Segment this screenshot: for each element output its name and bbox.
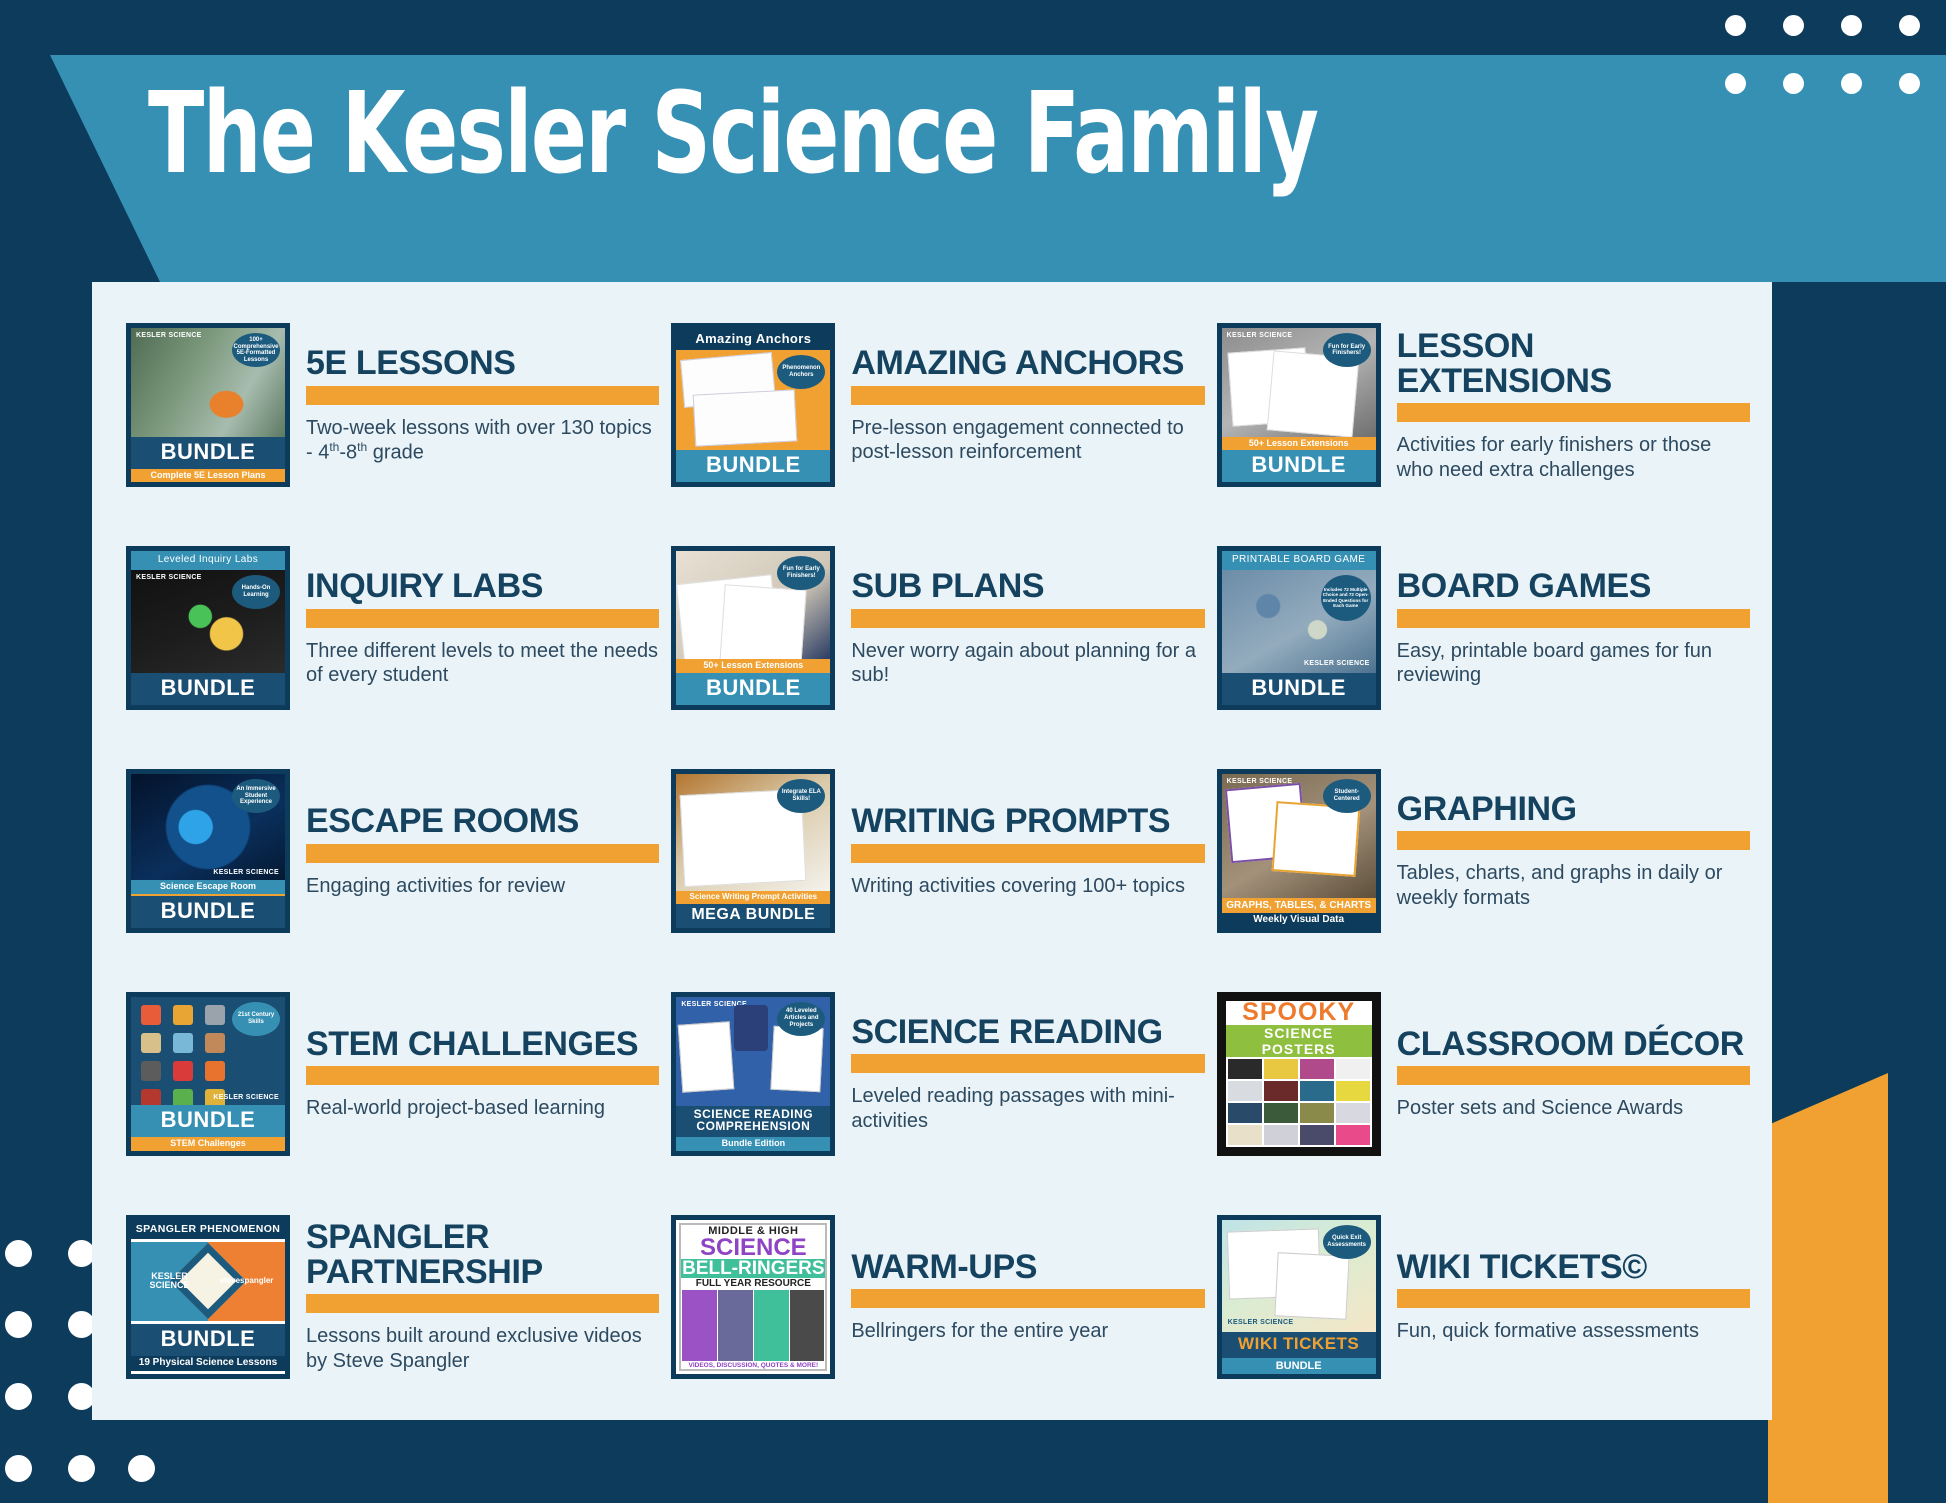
thumbnail-graphing[interactable]: KESLER SCIENCE Student-Centered GRAPHS, … <box>1217 769 1381 933</box>
cover-line3: BELL-RINGERS <box>681 1259 825 1278</box>
thumbnail-writing-prompts[interactable]: Integrate ELA Skills! Science Writing Pr… <box>671 769 835 933</box>
thumbnail-image: KESLER SCIENCE Student-Centered <box>1222 774 1376 898</box>
title-underline-bar <box>851 1054 1204 1073</box>
product-card-lesson-extensions[interactable]: KESLER SCIENCE Fun for Early Finishers! … <box>1211 294 1756 517</box>
thumbnail-badge: 100+ Comprehensive 5E-Formatted Lessons <box>232 333 280 367</box>
thumbnail-sub-label: 19 Physical Science Lessons <box>131 1356 285 1374</box>
product-description: Bellringers for the entire year <box>851 1319 1204 1343</box>
thumbnail-image: KESLER SCIENCE Quick Exit Assessments <box>1222 1220 1376 1332</box>
thumbnail-bundle-label: BUNDLE <box>1222 673 1376 705</box>
title-underline-bar <box>1397 831 1750 850</box>
thumbnail-bundle-label: MEGA BUNDLE <box>676 904 830 928</box>
kesler-science-logo-icon: KESLER SCIENCE <box>213 1094 279 1101</box>
thumbnail-sub-label: Weekly Visual Data <box>1222 913 1376 928</box>
title-underline-bar <box>306 1066 659 1085</box>
thumbnail-image: SPOOKY SCIENCE POSTERS <box>1226 1001 1372 1147</box>
thumbnail-image: KESLER SCIENCE An Immersive Student Expe… <box>131 774 285 880</box>
product-title: CLASSROOM DÉCOR <box>1397 1027 1750 1062</box>
poster-thumbnails <box>1226 1057 1372 1147</box>
product-title: WARM-UPS <box>851 1250 1204 1285</box>
thumbnail-spangler-partnership[interactable]: SPANGLER PHENOMENON KESLER SCIENCE steve… <box>126 1215 290 1379</box>
product-card-writing-prompts[interactable]: Integrate ELA Skills! Science Writing Pr… <box>665 740 1210 963</box>
product-card-warm-ups[interactable]: MIDDLE & HIGH SCIENCE BELL-RINGERS FULL … <box>665 1185 1210 1408</box>
product-description: Fun, quick formative assessments <box>1397 1319 1750 1343</box>
thumbnail-bundle-label: BUNDLE <box>131 1105 285 1137</box>
cover-line4: FULL YEAR RESOURCE <box>681 1278 825 1289</box>
thumbnail-top-label: Amazing Anchors <box>676 328 830 350</box>
product-description: Writing activities covering 100+ topics <box>851 874 1204 898</box>
title-underline-bar <box>1397 1289 1750 1308</box>
thumbnail-bundle-label: BUNDLE <box>131 437 285 469</box>
product-title: INQUIRY LABS <box>306 569 659 604</box>
thumbnail-inquiry-labs[interactable]: Leveled Inquiry Labs KESLER SCIENCE Hand… <box>126 546 290 710</box>
desc-part-3: grade <box>367 442 424 464</box>
product-description: Lessons built around exclusive videos by… <box>306 1324 659 1373</box>
desc-ordinal-1: th <box>329 440 339 454</box>
thumbnail-strip-label: STEM Challenges <box>131 1137 285 1151</box>
product-description: Never worry again about planning for a s… <box>851 639 1204 688</box>
product-description: Pre-lesson engagement connected to post-… <box>851 416 1204 465</box>
product-grid: KESLER SCIENCE 100+ Comprehensive 5E-For… <box>92 282 1772 1420</box>
thumbnail-badge: 40 Leveled Articles and Projects <box>777 1002 825 1036</box>
decorative-orange-corner <box>1768 1073 1888 1503</box>
product-card-spangler-partnership[interactable]: SPANGLER PHENOMENON KESLER SCIENCE steve… <box>120 1185 665 1408</box>
thumbnail-bundle-label: BUNDLE <box>131 673 285 705</box>
product-title: SPANGLER PARTNERSHIP <box>306 1220 659 1289</box>
thumbnail-image: KESLER SCIENCE Includes 72 Multiple Choi… <box>1222 570 1376 674</box>
product-description: Real-world project-based learning <box>306 1096 659 1120</box>
thumbnail-image: Integrate ELA Skills! <box>676 774 830 891</box>
product-card-wiki-tickets[interactable]: KESLER SCIENCE Quick Exit Assessments WI… <box>1211 1185 1756 1408</box>
product-card-science-reading[interactable]: KESLER SCIENCE 40 Leveled Articles and P… <box>665 962 1210 1185</box>
product-card-5e-lessons[interactable]: KESLER SCIENCE 100+ Comprehensive 5E-For… <box>120 294 665 517</box>
product-description: Activities for early finishers or those … <box>1397 433 1750 482</box>
steve-spangler-logo-icon: stevespangler <box>220 1277 274 1285</box>
thumbnail-bundle-label: SCIENCE READING COMPREHENSION <box>676 1106 830 1137</box>
product-card-escape-rooms[interactable]: KESLER SCIENCE An Immersive Student Expe… <box>120 740 665 963</box>
kesler-science-logo-icon: KESLER SCIENCE <box>136 574 202 581</box>
thumbnail-lesson-extensions[interactable]: KESLER SCIENCE Fun for Early Finishers! … <box>1217 323 1381 487</box>
thumbnail-badge: Student-Centered <box>1323 779 1371 813</box>
product-description: Engaging activities for review <box>306 874 659 898</box>
thumbnail-badge: Integrate ELA Skills! <box>777 779 825 813</box>
thumbnail-image: KESLER SCIENCE Hands-On Learning <box>131 570 285 674</box>
desc-ordinal-2: th <box>357 440 367 454</box>
kesler-science-logo-icon: KESLER SCIENCE <box>131 1272 208 1290</box>
thumbnail-stem-challenges[interactable]: KESLER SCIENCE 21st Century Skills BUNDL… <box>126 992 290 1156</box>
product-title: ESCAPE ROOMS <box>306 804 659 839</box>
decorative-dots-top-right <box>1725 15 1925 100</box>
poster-title-line2: SCIENCE POSTERS <box>1226 1025 1372 1057</box>
thumbnail-badge: Phenomenon Anchors <box>777 355 825 389</box>
thumbnail-bundle-label: BUNDLE <box>676 673 830 705</box>
product-card-graphing[interactable]: KESLER SCIENCE Student-Centered GRAPHS, … <box>1211 740 1756 963</box>
thumbnail-escape-rooms[interactable]: KESLER SCIENCE An Immersive Student Expe… <box>126 769 290 933</box>
thumbnail-strip-label: GRAPHS, TABLES, & CHARTS <box>1222 898 1376 913</box>
thumbnail-image: KESLER SCIENCE stevespangler <box>131 1239 285 1324</box>
thumbnail-image: Phenomenon Anchors <box>676 350 830 450</box>
product-title: AMAZING ANCHORS <box>851 346 1204 381</box>
thumbnail-badge: Fun for Early Finishers! <box>777 556 825 590</box>
thumbnail-sub-plans[interactable]: Fun for Early Finishers! 50+ Lesson Exte… <box>671 546 835 710</box>
cover-line5: VIDEOS, DISCUSSION, QUOTES & MORE! <box>681 1362 825 1369</box>
product-card-stem-challenges[interactable]: KESLER SCIENCE 21st Century Skills BUNDL… <box>120 962 665 1185</box>
poster-title-line1: SPOOKY <box>1226 1001 1372 1025</box>
title-underline-bar <box>1397 1066 1750 1085</box>
cover-thumbnails <box>681 1289 825 1362</box>
product-card-inquiry-labs[interactable]: Leveled Inquiry Labs KESLER SCIENCE Hand… <box>120 517 665 740</box>
desc-part-2: -8 <box>339 442 357 464</box>
thumbnail-badge: Quick Exit Assessments <box>1323 1225 1371 1259</box>
product-card-sub-plans[interactable]: Fun for Early Finishers! 50+ Lesson Exte… <box>665 517 1210 740</box>
thumbnail-sub-label: BUNDLE <box>1222 1358 1376 1374</box>
kesler-science-logo-icon: KESLER SCIENCE <box>1227 332 1293 339</box>
product-description: Two-week lessons with over 130 topics - … <box>306 416 659 465</box>
thumbnail-bundle-label: BUNDLE <box>1222 450 1376 482</box>
product-title: BOARD GAMES <box>1397 569 1750 604</box>
cover-line2: SCIENCE <box>681 1237 825 1259</box>
product-card-board-games[interactable]: PRINTABLE BOARD GAME KESLER SCIENCE Incl… <box>1211 517 1756 740</box>
product-title: SUB PLANS <box>851 569 1204 604</box>
product-title: LESSON EXTENSIONS <box>1397 329 1750 398</box>
thumbnail-warm-ups[interactable]: MIDDLE & HIGH SCIENCE BELL-RINGERS FULL … <box>671 1215 835 1379</box>
kesler-science-logo-icon: KESLER SCIENCE <box>1304 660 1370 667</box>
title-underline-bar <box>851 1289 1204 1308</box>
product-title: 5E LESSONS <box>306 346 659 381</box>
thumbnail-strip-label: Complete 5E Lesson Plans <box>131 469 285 483</box>
thumbnail-strip-label: 50+ Lesson Extensions <box>676 659 830 673</box>
thumbnail-strip-label: Science Escape Room <box>131 880 285 896</box>
thumbnail-top-label: PRINTABLE BOARD GAME <box>1222 551 1376 570</box>
page-title: The Kesler Science Family <box>148 78 1317 190</box>
product-title: WRITING PROMPTS <box>851 804 1204 839</box>
thumbnail-amazing-anchors[interactable]: Amazing Anchors Phenomenon Anchors BUNDL… <box>671 323 835 487</box>
thumbnail-board-games[interactable]: PRINTABLE BOARD GAME KESLER SCIENCE Incl… <box>1217 546 1381 710</box>
thumbnail-badge: Includes 72 Multiple Choice and 72 Open-… <box>1321 575 1371 621</box>
thumbnail-badge: Hands-On Learning <box>232 575 280 609</box>
thumbnail-image: KESLER SCIENCE 21st Century Skills <box>131 997 285 1105</box>
thumbnail-badge: 21st Century Skills <box>232 1002 280 1036</box>
kesler-science-logo-icon: KESLER SCIENCE <box>213 869 279 876</box>
thumbnail-strip-label: 50+ Lesson Extensions <box>1222 437 1376 451</box>
title-underline-bar <box>1397 403 1750 422</box>
product-card-amazing-anchors[interactable]: Amazing Anchors Phenomenon Anchors BUNDL… <box>665 294 1210 517</box>
title-underline-bar <box>306 1294 659 1313</box>
thumbnail-bundle-label: BUNDLE <box>131 896 285 928</box>
thumbnail-bundle-label: WIKI TICKETS <box>1222 1332 1376 1358</box>
kesler-science-logo-icon: KESLER SCIENCE <box>136 332 202 339</box>
product-description: Easy, printable board games for fun revi… <box>1397 639 1750 688</box>
thumbnail-sub-label: Bundle Edition <box>676 1137 830 1151</box>
thumbnail-image: KESLER SCIENCE Fun for Early Finishers! <box>1222 328 1376 436</box>
product-title: GRAPHING <box>1397 792 1750 827</box>
thumbnail-top-label: SPANGLER PHENOMENON <box>131 1220 285 1239</box>
thumbnail-strip-label: Science Writing Prompt Activities <box>676 891 830 904</box>
thumbnail-image: KESLER SCIENCE 40 Leveled Articles and P… <box>676 997 830 1106</box>
title-underline-bar <box>1397 609 1750 628</box>
title-underline-bar <box>306 386 659 405</box>
thumbnail-science-reading[interactable]: KESLER SCIENCE 40 Leveled Articles and P… <box>671 992 835 1156</box>
product-description: Leveled reading passages with mini-activ… <box>851 1084 1204 1133</box>
product-title: WIKI TICKETS© <box>1397 1250 1750 1285</box>
title-underline-bar <box>851 386 1204 405</box>
product-description: Poster sets and Science Awards <box>1397 1096 1750 1120</box>
thumbnail-wiki-tickets[interactable]: KESLER SCIENCE Quick Exit Assessments WI… <box>1217 1215 1381 1379</box>
thumbnail-image: MIDDLE & HIGH SCIENCE BELL-RINGERS FULL … <box>679 1223 827 1371</box>
product-title: SCIENCE READING <box>851 1015 1204 1050</box>
title-underline-bar <box>306 844 659 863</box>
title-underline-bar <box>851 844 1204 863</box>
thumbnail-top-label: Leveled Inquiry Labs <box>131 551 285 570</box>
thumbnail-image: Fun for Early Finishers! <box>676 551 830 659</box>
thumbnail-image: KESLER SCIENCE 100+ Comprehensive 5E-For… <box>131 328 285 436</box>
title-underline-bar <box>306 609 659 628</box>
thumbnail-badge: An Immersive Student Experience <box>232 779 280 813</box>
product-description: Tables, charts, and graphs in daily or w… <box>1397 861 1750 910</box>
product-title: STEM CHALLENGES <box>306 1027 659 1062</box>
product-card-classroom-decor[interactable]: SPOOKY SCIENCE POSTERS <box>1211 962 1756 1185</box>
thumbnail-bundle-label: BUNDLE <box>676 450 830 482</box>
title-underline-bar <box>851 609 1204 628</box>
kesler-science-logo-icon: KESLER SCIENCE <box>1228 1319 1294 1326</box>
product-description: Three different levels to meet the needs… <box>306 639 659 688</box>
thumbnail-5e-lessons[interactable]: KESLER SCIENCE 100+ Comprehensive 5E-For… <box>126 323 290 487</box>
thumbnail-classroom-decor[interactable]: SPOOKY SCIENCE POSTERS <box>1217 992 1381 1156</box>
thumbnail-badge: Fun for Early Finishers! <box>1323 333 1371 367</box>
content-panel: KESLER SCIENCE 100+ Comprehensive 5E-For… <box>92 282 1772 1420</box>
thumbnail-bundle-label: BUNDLE <box>131 1324 285 1356</box>
